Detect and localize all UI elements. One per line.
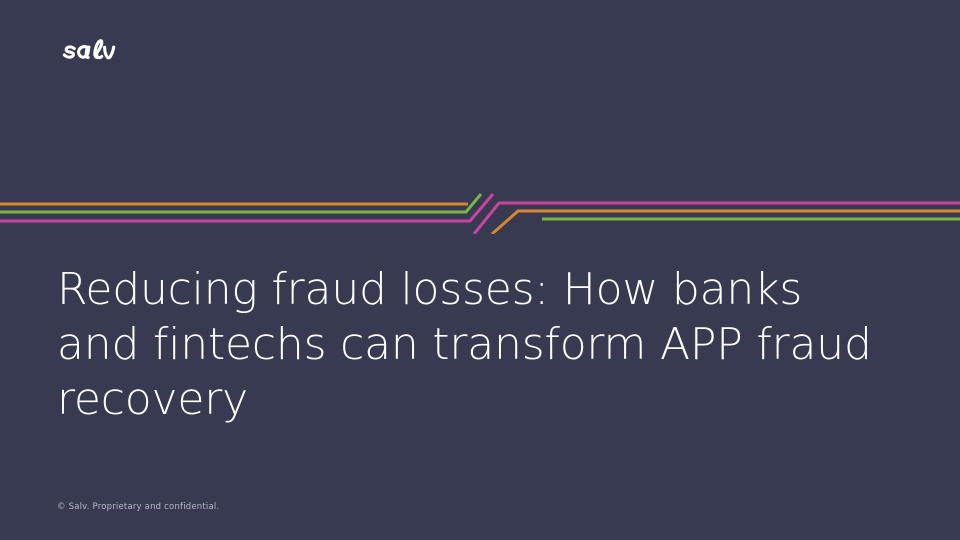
stripe-right-orange [492, 211, 960, 234]
stripe-left-magenta [0, 194, 493, 221]
diagonal-stripes-graphic [0, 186, 960, 234]
slide-canvas: Reducing fraud losses: How banks and fin… [0, 0, 960, 540]
salv-logo-icon [56, 30, 136, 70]
footer-copyright: © Salv. Proprietary and confidential. [57, 502, 219, 512]
stripes-svg [0, 186, 960, 234]
salv-logo[interactable] [56, 30, 136, 70]
slide-title: Reducing fraud losses: How banks and fin… [57, 262, 887, 427]
